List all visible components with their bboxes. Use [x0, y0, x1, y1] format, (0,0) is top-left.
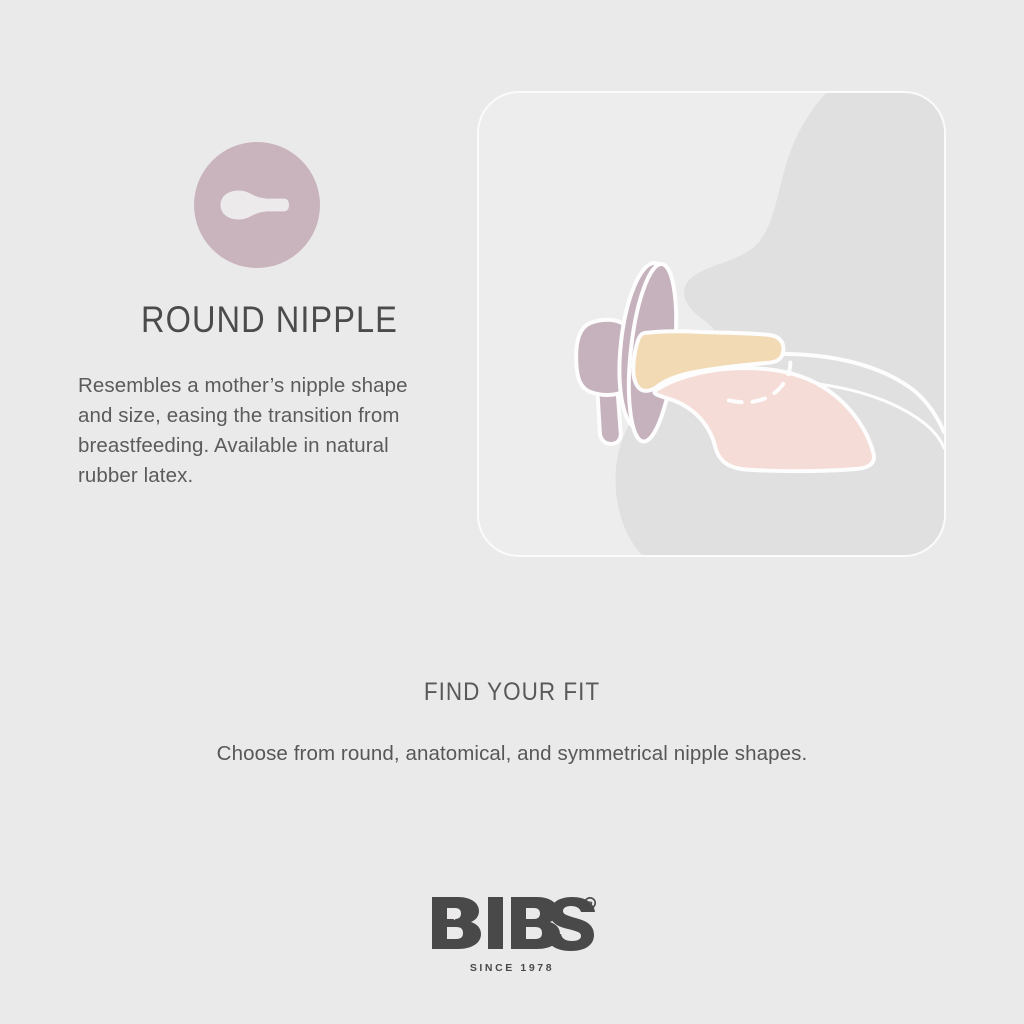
- svg-text:R: R: [587, 899, 593, 908]
- baby-profile-with-pacifier-diagram: [477, 91, 946, 557]
- bibs-wordmark: R: [428, 895, 596, 951]
- fit-section-subtitle: Choose from round, anatomical, and symme…: [0, 742, 1024, 766]
- feature-description: Resembles a mother’s nipple shape and si…: [78, 371, 438, 491]
- poster-canvas: ROUND NIPPLE Resembles a mother’s nipple…: [0, 0, 1024, 1024]
- registered-mark: R: [585, 898, 595, 909]
- page-title: ROUND NIPPLE: [141, 301, 493, 338]
- brand-logo: R SINCE 1978: [0, 895, 1024, 974]
- round-nipple-shape-icon: [192, 140, 322, 270]
- fit-section-title: FIND YOUR FIT: [51, 678, 973, 707]
- logo-tagline: SINCE 1978: [470, 962, 554, 974]
